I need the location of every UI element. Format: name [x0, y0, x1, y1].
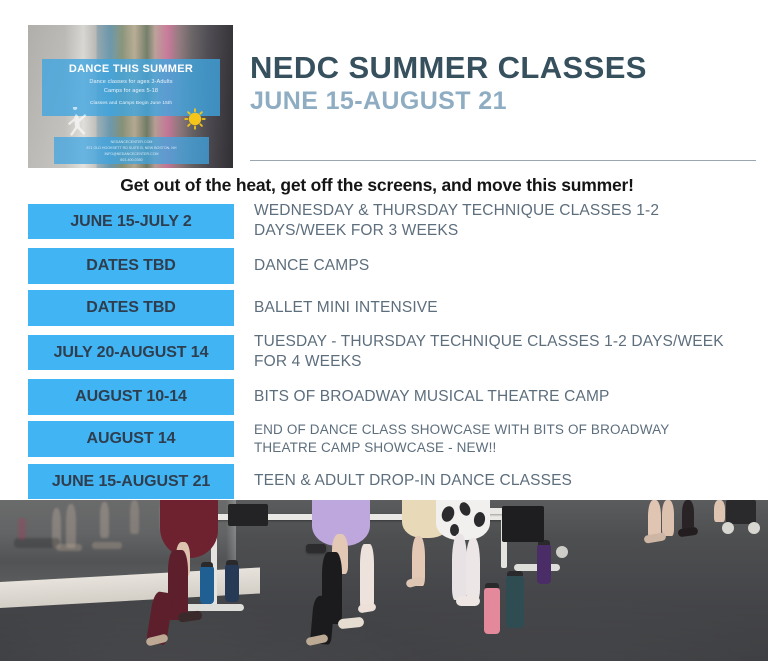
- promo-website: NEDANCECENTER.COM: [54, 140, 209, 144]
- date-badge: AUGUST 10-14: [28, 379, 234, 415]
- bottle-cap: [201, 562, 213, 567]
- studio-equipment: [502, 506, 544, 542]
- water-bottle: [200, 566, 214, 604]
- reflection-shoe: [92, 542, 122, 549]
- dancer-silhouette-icon: [62, 107, 88, 141]
- table-row: JUNE 15-JULY 2 WEDNESDAY & THURSDAY TECH…: [0, 201, 768, 242]
- header-divider: [250, 160, 756, 161]
- header: DANCE THIS SUMMER Dance classes for ages…: [0, 0, 768, 165]
- promo-address: 871 OLD HOOKSETT RD SUITE B, NEW BOSTON,…: [54, 146, 209, 150]
- class-description: END OF DANCE CLASS SHOWCASE WITH BITS OF…: [234, 421, 768, 458]
- promo-line-1: Dance classes for ages 3-Adults: [42, 79, 220, 85]
- date-badge: JULY 20-AUGUST 14: [28, 335, 234, 371]
- promo-flyer-thumbnail: DANCE THIS SUMMER Dance classes for ages…: [28, 25, 233, 168]
- floral-print: [436, 500, 490, 540]
- ballet-barre-foot: [182, 604, 244, 611]
- sun-icon: [184, 108, 206, 130]
- promo-line-2: Camps for ages 5-18: [42, 88, 220, 94]
- cart-wheel: [722, 522, 734, 534]
- header-text-block: NEDC SUMMER CLASSES JUNE 15-AUGUST 21: [250, 52, 750, 115]
- reflection-leg: [100, 502, 109, 538]
- water-bottle-teal: [506, 576, 524, 628]
- cart-wheel: [556, 546, 568, 558]
- barre-clamp: [306, 544, 326, 553]
- tagline: Get out of the heat, get off the screens…: [0, 175, 768, 196]
- promo-phone: 603-400-0350: [54, 158, 209, 162]
- ballet-shoe: [456, 596, 480, 606]
- table-row: AUGUST 10-14 BITS OF BROADWAY MUSICAL TH…: [0, 379, 768, 415]
- page-title: NEDC SUMMER CLASSES: [250, 52, 750, 85]
- schedule-table: JUNE 15-JULY 2 WEDNESDAY & THURSDAY TECH…: [0, 201, 768, 506]
- cart-wheel: [748, 522, 760, 534]
- water-bottle: [225, 564, 239, 602]
- water-bottle-pink: [484, 588, 500, 634]
- reflection-leg: [66, 504, 76, 548]
- dancer-leg-tights: [360, 544, 374, 610]
- reflection-leg: [130, 500, 139, 534]
- table-row: DATES TBD BALLET MINI INTENSIVE: [0, 290, 768, 326]
- bottle-cap: [485, 583, 499, 588]
- table-row: DATES TBD DANCE CAMPS: [0, 248, 768, 284]
- dancer-leg: [714, 500, 725, 522]
- date-badge: DATES TBD: [28, 248, 234, 284]
- bottle-cap: [226, 560, 238, 565]
- promo-text-overlay: DANCE THIS SUMMER Dance classes for ages…: [42, 59, 220, 116]
- dancer-leg-tights: [466, 538, 480, 600]
- dancer-leg-tights: [452, 534, 467, 600]
- page-subtitle: JUNE 15-AUGUST 21: [250, 88, 750, 116]
- promo-headline: DANCE THIS SUMMER: [42, 63, 220, 75]
- studio-equipment: [228, 504, 268, 526]
- bottle-cap: [507, 571, 523, 576]
- date-badge: DATES TBD: [28, 290, 234, 326]
- reflection-bottle: [18, 518, 26, 540]
- class-description: DANCE CAMPS: [234, 256, 768, 276]
- studio-cart: [726, 500, 756, 524]
- promo-line-3: Classes and Camps Begin June 15th: [42, 101, 220, 106]
- date-badge: AUGUST 14: [28, 421, 234, 457]
- studio-photo: [0, 500, 768, 661]
- table-row: JULY 20-AUGUST 14 TUESDAY - THURSDAY TEC…: [0, 332, 768, 373]
- table-row: AUGUST 14 END OF DANCE CLASS SHOWCASE WI…: [0, 421, 768, 458]
- class-description: BALLET MINI INTENSIVE: [234, 298, 768, 318]
- table-row: JUNE 15-AUGUST 21 TEEN & ADULT DROP-IN D…: [0, 464, 768, 500]
- date-badge: JUNE 15-AUGUST 21: [28, 464, 234, 500]
- class-description: WEDNESDAY & THURSDAY TECHNIQUE CLASSES 1…: [234, 201, 768, 242]
- dancer-leg: [662, 500, 674, 536]
- date-badge: JUNE 15-JULY 2: [28, 204, 234, 240]
- class-description: BITS OF BROADWAY MUSICAL THEATRE CAMP: [234, 387, 768, 407]
- water-bottle-purple: [537, 544, 551, 584]
- promo-contact-overlay: NEDANCECENTER.COM 871 OLD HOOKSETT RD SU…: [54, 137, 209, 164]
- reflection-shoe: [56, 544, 82, 551]
- class-description: TEEN & ADULT DROP-IN DANCE CLASSES: [234, 471, 768, 491]
- promo-email: INFO@NEDANCECENTER.COM: [54, 152, 209, 156]
- class-description: TUESDAY - THURSDAY TECHNIQUE CLASSES 1-2…: [234, 332, 768, 373]
